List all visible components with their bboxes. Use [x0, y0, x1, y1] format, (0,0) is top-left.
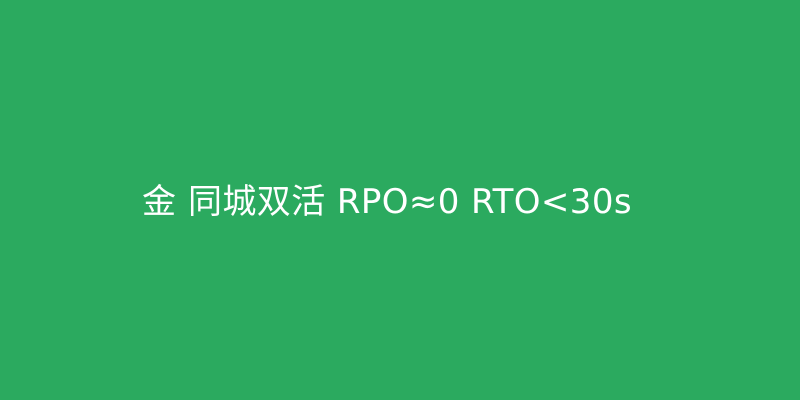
banner-caption-text: 金 同城双活 RPO≈0 RTO<30s: [142, 182, 632, 223]
banner-canvas: 金 同城双活 RPO≈0 RTO<30s: [0, 0, 800, 400]
